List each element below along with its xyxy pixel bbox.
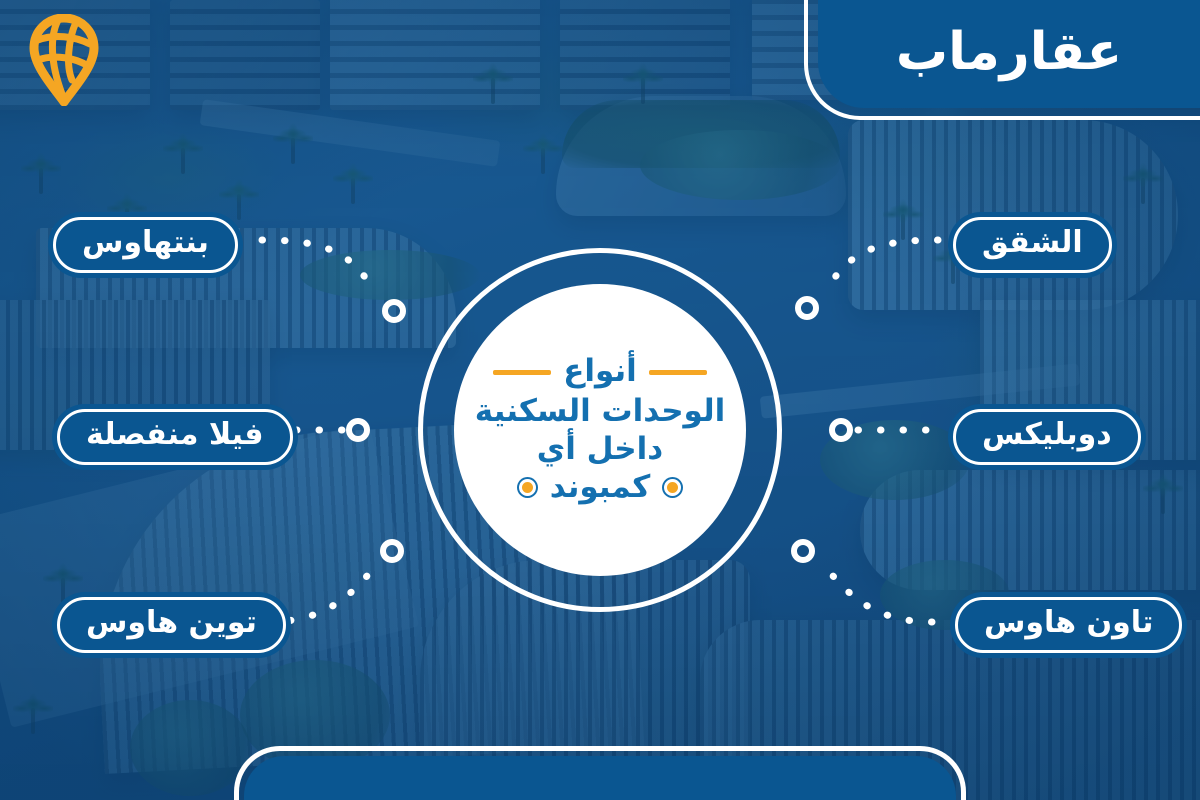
label-pill-penthouse[interactable]: بنتهاوس xyxy=(48,212,243,278)
label-text-villa: فيلا منفصلة xyxy=(86,420,264,450)
orange-dash-icon xyxy=(493,370,551,375)
medallion-line-4: كمبوند xyxy=(550,469,650,507)
label-text-apartments: الشقق xyxy=(982,228,1083,258)
orange-dot-icon xyxy=(664,479,681,496)
label-text-townhouse: تاون هاوس xyxy=(984,608,1153,638)
label-pill-apartments[interactable]: الشقق xyxy=(948,212,1117,278)
label-pill-villa[interactable]: فيلا منفصلة xyxy=(52,404,298,470)
center-medallion: أنواع الوحدات السكنية داخل أي كمبوند xyxy=(418,248,782,612)
medallion-line-2: الوحدات السكنية xyxy=(475,393,725,431)
label-text-penthouse: بنتهاوس xyxy=(82,228,209,258)
label-text-duplex: دوبليكس xyxy=(982,420,1112,450)
map-pin-globe-icon xyxy=(28,14,100,106)
orange-dash-icon xyxy=(649,370,707,375)
medallion-line-1: أنواع xyxy=(563,353,637,391)
brand-name: عقارماب xyxy=(896,26,1122,78)
label-pill-duplex[interactable]: دوبليكس xyxy=(948,404,1146,470)
medallion-line-3: داخل أي xyxy=(475,431,725,469)
medallion-text-block: أنواع الوحدات السكنية داخل أي كمبوند xyxy=(461,353,739,506)
bottom-banner xyxy=(244,756,956,800)
medallion-title-row: أنواع xyxy=(475,353,725,391)
infographic-canvas: عقارماب أنواع xyxy=(0,0,1200,800)
medallion-disc: أنواع الوحدات السكنية داخل أي كمبوند xyxy=(454,284,746,576)
label-pill-townhouse[interactable]: تاون هاوس xyxy=(950,592,1187,658)
medallion-last-row: كمبوند xyxy=(475,469,725,507)
brand-bar: عقارماب xyxy=(818,0,1200,108)
label-text-twinhouse: توين هاوس xyxy=(86,608,257,638)
label-pill-twinhouse[interactable]: توين هاوس xyxy=(52,592,291,658)
orange-dot-icon xyxy=(519,479,536,496)
